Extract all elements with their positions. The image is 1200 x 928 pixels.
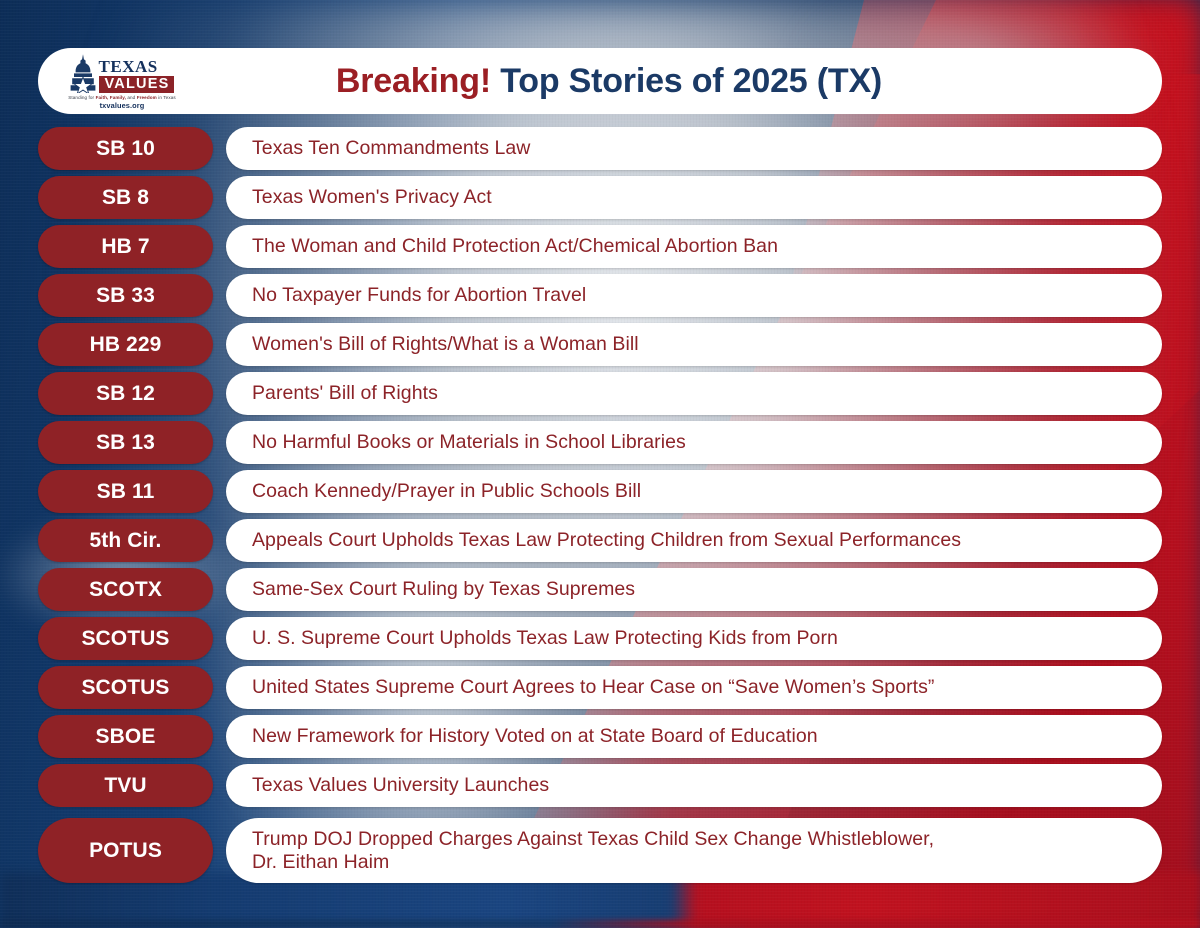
- story-bar[interactable]: Coach Kennedy/Prayer in Public Schools B…: [226, 470, 1162, 513]
- story-tag-badge[interactable]: SB 11: [38, 470, 213, 513]
- story-title: The Woman and Child Protection Act/Chemi…: [252, 235, 778, 258]
- story-row: SB 8Texas Women's Privacy Act: [38, 176, 1162, 219]
- story-row: SCOTUSUnited States Supreme Court Agrees…: [38, 666, 1162, 709]
- story-row: HB 229Women's Bill of Rights/What is a W…: [38, 323, 1162, 366]
- story-tag-badge[interactable]: SB 8: [38, 176, 213, 219]
- story-title: U. S. Supreme Court Upholds Texas Law Pr…: [252, 627, 838, 650]
- story-bar[interactable]: Same-Sex Court Ruling by Texas Supremes: [226, 568, 1158, 611]
- story-title: United States Supreme Court Agrees to He…: [252, 676, 934, 699]
- story-title: Texas Ten Commandments Law: [252, 137, 530, 160]
- story-title: Parents' Bill of Rights: [252, 382, 438, 405]
- story-title: Texas Women's Privacy Act: [252, 186, 492, 209]
- story-tag-badge[interactable]: HB 7: [38, 225, 213, 268]
- story-title: Women's Bill of Rights/What is a Woman B…: [252, 333, 639, 356]
- story-title: Appeals Court Upholds Texas Law Protecti…: [252, 529, 961, 552]
- story-bar[interactable]: New Framework for History Voted on at St…: [226, 715, 1162, 758]
- story-bar[interactable]: Trump DOJ Dropped Charges Against Texas …: [226, 818, 1162, 883]
- story-row: SCOTUSU. S. Supreme Court Upholds Texas …: [38, 617, 1162, 660]
- story-bar[interactable]: United States Supreme Court Agrees to He…: [226, 666, 1162, 709]
- story-bar[interactable]: Texas Ten Commandments Law: [226, 127, 1162, 170]
- story-tag-badge[interactable]: SCOTUS: [38, 617, 213, 660]
- story-tag-badge[interactable]: SB 10: [38, 127, 213, 170]
- story-row: TVUTexas Values University Launches: [38, 764, 1162, 807]
- story-row: HB 7The Woman and Child Protection Act/C…: [38, 225, 1162, 268]
- story-row: SB 12Parents' Bill of Rights: [38, 372, 1162, 415]
- story-title: New Framework for History Voted on at St…: [252, 725, 818, 748]
- story-list: SB 10Texas Ten Commandments LawSB 8Texas…: [0, 0, 1200, 928]
- story-bar[interactable]: No Taxpayer Funds for Abortion Travel: [226, 274, 1162, 317]
- story-tag-badge[interactable]: SB 13: [38, 421, 213, 464]
- story-tag-badge[interactable]: SCOTUS: [38, 666, 213, 709]
- story-row: POTUSTrump DOJ Dropped Charges Against T…: [38, 818, 1162, 883]
- story-bar[interactable]: Women's Bill of Rights/What is a Woman B…: [226, 323, 1162, 366]
- story-bar[interactable]: Texas Values University Launches: [226, 764, 1162, 807]
- story-row: SCOTXSame-Sex Court Ruling by Texas Supr…: [38, 568, 1158, 611]
- story-title: No Taxpayer Funds for Abortion Travel: [252, 284, 586, 307]
- story-title: Coach Kennedy/Prayer in Public Schools B…: [252, 480, 641, 503]
- story-row: SB 11Coach Kennedy/Prayer in Public Scho…: [38, 470, 1162, 513]
- story-tag-badge[interactable]: TVU: [38, 764, 213, 807]
- story-title: Texas Values University Launches: [252, 774, 549, 797]
- story-row: SB 33No Taxpayer Funds for Abortion Trav…: [38, 274, 1162, 317]
- story-bar[interactable]: The Woman and Child Protection Act/Chemi…: [226, 225, 1162, 268]
- story-title: Trump DOJ Dropped Charges Against Texas …: [252, 828, 934, 874]
- story-tag-badge[interactable]: SBOE: [38, 715, 213, 758]
- story-bar[interactable]: No Harmful Books or Materials in School …: [226, 421, 1162, 464]
- story-title: Same-Sex Court Ruling by Texas Supremes: [252, 578, 635, 601]
- story-tag-badge[interactable]: SCOTX: [38, 568, 213, 611]
- story-bar[interactable]: Parents' Bill of Rights: [226, 372, 1162, 415]
- story-tag-badge[interactable]: SB 33: [38, 274, 213, 317]
- story-tag-badge[interactable]: 5th Cir.: [38, 519, 213, 562]
- story-tag-badge[interactable]: HB 229: [38, 323, 213, 366]
- story-tag-badge[interactable]: SB 12: [38, 372, 213, 415]
- story-title: No Harmful Books or Materials in School …: [252, 431, 686, 454]
- story-bar[interactable]: Texas Women's Privacy Act: [226, 176, 1162, 219]
- story-row: SB 10Texas Ten Commandments Law: [38, 127, 1162, 170]
- infographic-canvas: TEXAS VALUES Standing for Faith, Family,…: [0, 0, 1200, 928]
- story-row: 5th Cir.Appeals Court Upholds Texas Law …: [38, 519, 1162, 562]
- story-row: SBOENew Framework for History Voted on a…: [38, 715, 1162, 758]
- story-bar[interactable]: Appeals Court Upholds Texas Law Protecti…: [226, 519, 1162, 562]
- story-tag-badge[interactable]: POTUS: [38, 818, 213, 883]
- story-bar[interactable]: U. S. Supreme Court Upholds Texas Law Pr…: [226, 617, 1162, 660]
- story-row: SB 13No Harmful Books or Materials in Sc…: [38, 421, 1162, 464]
